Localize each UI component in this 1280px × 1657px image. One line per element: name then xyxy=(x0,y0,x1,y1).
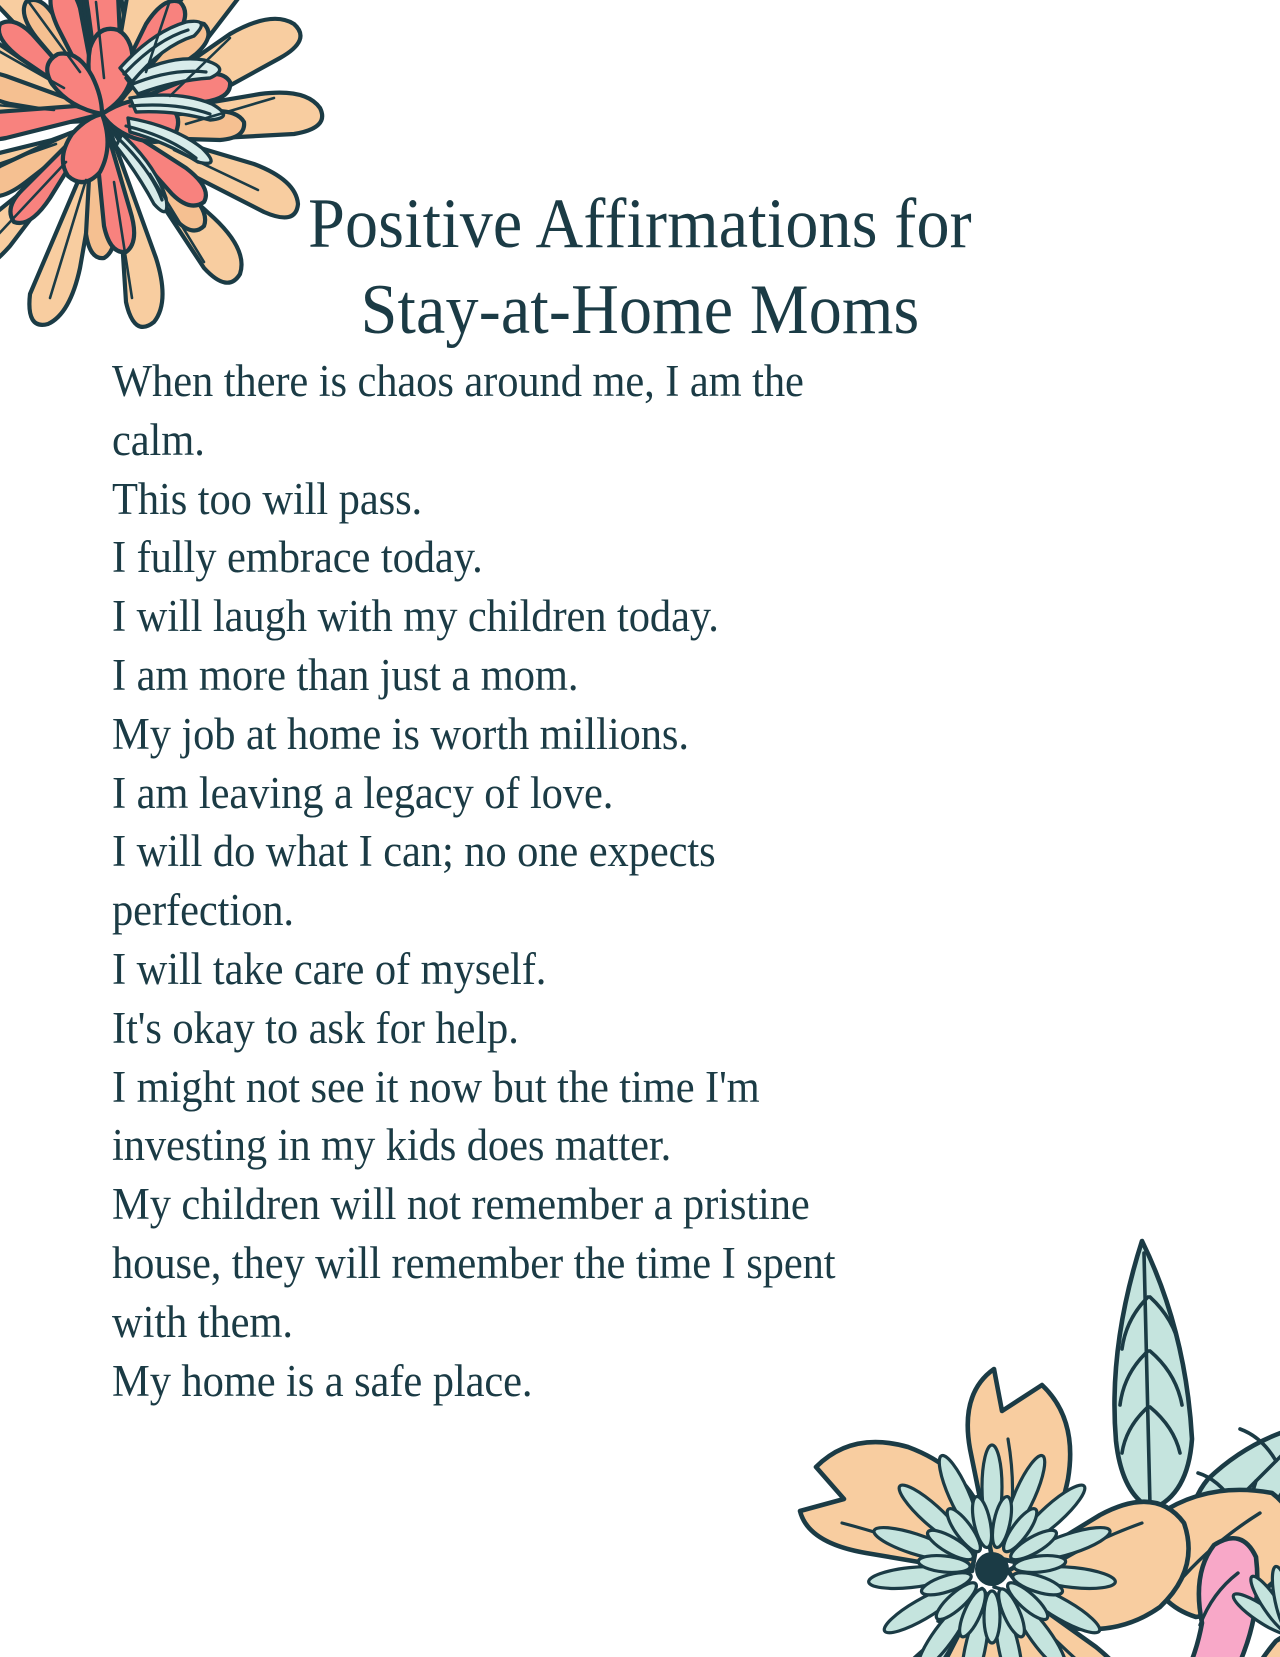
affirmation-line: I might not see it now but the time I'm xyxy=(112,1058,1019,1117)
affirmation-line: When there is chaos around me, I am the xyxy=(112,352,1019,411)
affirmation-line: perfection. xyxy=(112,881,1019,940)
affirmation-line: It's okay to ask for help. xyxy=(112,999,1019,1058)
affirmation-line: I fully embrace today. xyxy=(112,528,1019,587)
affirmation-line: I will laugh with my children today. xyxy=(112,587,1019,646)
affirmation-line: I will take care of myself. xyxy=(112,940,1019,999)
affirmation-line: I am leaving a legacy of love. xyxy=(112,764,1019,823)
affirmation-line: My job at home is worth millions. xyxy=(112,705,1019,764)
page-title-line-1: Positive Affirmations for xyxy=(155,181,1126,267)
affirmation-line: with them. xyxy=(112,1293,1019,1352)
affirmation-line: house, they will remember the time I spe… xyxy=(112,1234,1019,1293)
affirmations-list: When there is chaos around me, I am the … xyxy=(112,352,1072,1410)
affirmation-line: calm. xyxy=(112,411,1019,470)
affirmation-line: My home is a safe place. xyxy=(112,1352,1019,1411)
page-title-line-2: Stay-at-Home Moms xyxy=(155,267,1126,353)
affirmation-line: This too will pass. xyxy=(112,470,1019,529)
printable-affirmation-page: Positive Affirmations for Stay-at-Home M… xyxy=(0,0,1280,1657)
affirmation-line: I will do what I can; no one expects xyxy=(112,822,1019,881)
page-title: Positive Affirmations for Stay-at-Home M… xyxy=(0,181,1280,353)
affirmation-line: investing in my kids does matter. xyxy=(112,1116,1019,1175)
affirmation-line: My children will not remember a pristine xyxy=(112,1175,1019,1234)
affirmation-line: I am more than just a mom. xyxy=(112,646,1019,705)
